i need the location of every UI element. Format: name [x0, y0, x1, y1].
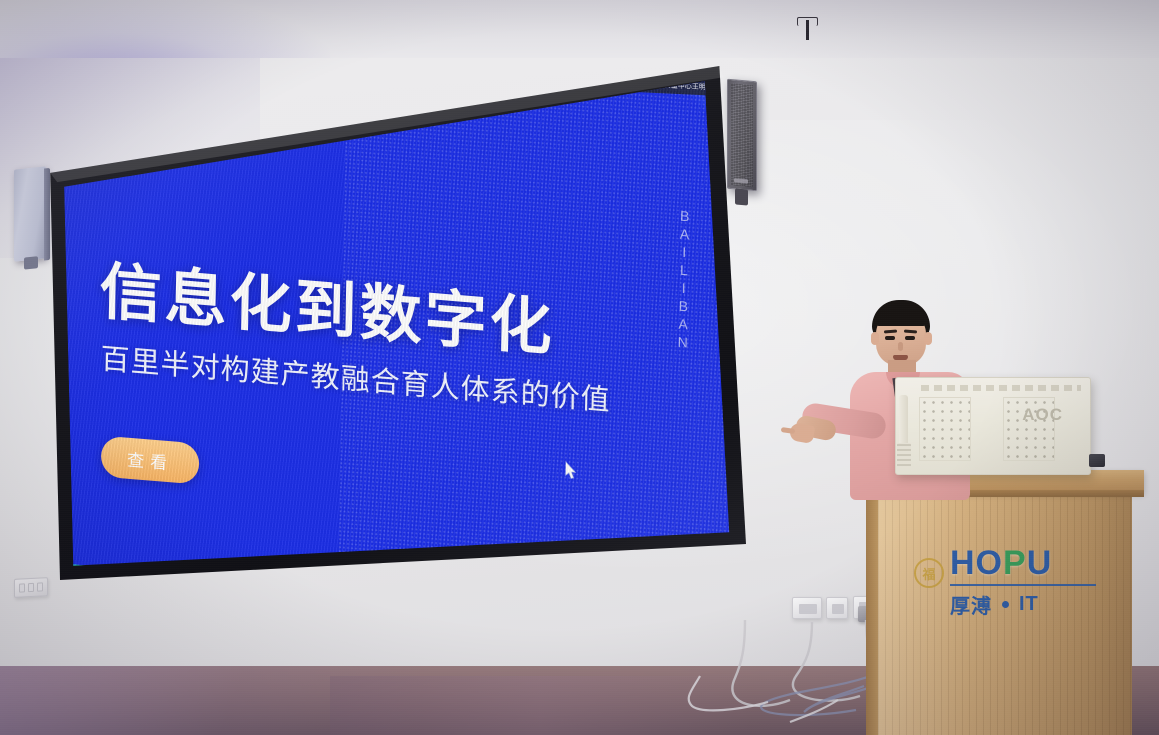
switch-rocker-2[interactable] [28, 583, 34, 592]
presenter-ear-left [871, 332, 879, 345]
toolbar-divider [374, 87, 375, 96]
presentation-slide[interactable]: 信息化到数字化 百里半对构建产教融合育人体系的价值 查看 BAILIBAN 切换… [46, 66, 746, 580]
seal-logo-icon: 福 [914, 558, 944, 588]
wall-outlet-1[interactable] [792, 597, 822, 619]
hopu-logo: HOPU 厚溥 IT [950, 546, 1096, 619]
hopu-p: P [1003, 544, 1027, 582]
slide-dot-row [72, 135, 144, 157]
presenter-hair-front [874, 306, 928, 326]
display-screen[interactable]: 信息化到数字化 百里半对构建产教融合育人体系的价值 查看 BAILIBAN 切换… [46, 66, 746, 580]
share-toolbar-left-label-2[interactable]: 结束共享 [397, 87, 425, 98]
share-toolbar-left-label-1[interactable]: 切换到共享屏幕 [318, 83, 367, 95]
hopu-wordmark-cn: 厚溥 [950, 590, 992, 619]
dot-orange-icon [72, 135, 88, 152]
monitor-buttons[interactable] [897, 443, 911, 469]
switch-rocker-1[interactable] [19, 583, 25, 592]
slide-vertical-brand: BAILIBAN [664, 206, 703, 353]
outlet-socket[interactable] [799, 604, 817, 614]
monitor-power-plug [1089, 454, 1105, 467]
share-toolbar-left[interactable]: 切换到共享屏幕 结束共享 [295, 79, 433, 101]
hopu-u: U [1027, 544, 1053, 582]
signal-icon [303, 84, 311, 92]
presenter-eye-left [885, 336, 895, 340]
aoc-monitor-rear[interactable]: AOC [895, 377, 1091, 475]
record-icon [382, 87, 390, 95]
presenter-ear-right [924, 332, 932, 345]
switch-rocker-3[interactable] [37, 582, 43, 591]
slide-plane: 信息化到数字化 百里半对构建产教融合育人体系的价值 查看 BAILIBAN 切换… [46, 66, 746, 580]
hopu-wordmark: HOPU [950, 546, 1096, 580]
monitor-vent-slots [921, 385, 1081, 391]
slide-cta-button[interactable]: 查看 [101, 436, 200, 485]
ceiling-bracket-icon [802, 14, 813, 40]
hopu-wordmark-suffix: IT [1019, 593, 1039, 616]
bracket-stem [806, 20, 809, 40]
presenter-eye-right [905, 336, 915, 340]
hopu-ho: HO [950, 544, 1003, 582]
outlet-socket[interactable] [832, 604, 844, 614]
presenter-nose [898, 342, 903, 351]
speaker-body [14, 166, 46, 261]
wall-display[interactable]: 信息化到数字化 百里半对构建产教融合育人体系的价值 查看 BAILIBAN 切换… [46, 66, 746, 580]
hopu-dot-icon [1002, 601, 1009, 608]
monitor-brand-label: AOC [1022, 405, 1063, 425]
arrow-cursor-icon [565, 462, 577, 481]
dot-white-2-icon [128, 139, 144, 156]
wall-outlet-2[interactable] [826, 597, 848, 619]
hopu-subwordmark: 厚溥 IT [950, 590, 1096, 619]
speaker-mount [24, 256, 38, 269]
dot-white-1-icon [100, 137, 116, 154]
hopu-rule [950, 584, 1096, 586]
monitor-vent-left [919, 397, 971, 461]
wall-speaker-left [14, 166, 46, 261]
wooden-lectern: 福 HOPU 厚溥 IT [866, 470, 1144, 735]
classroom-scene: 信息化到数字化 百里半对构建产教融合育人体系的价值 查看 BAILIBAN 切换… [0, 0, 1159, 735]
light-switch-panel[interactable] [14, 577, 48, 598]
floor-reflection-center [330, 676, 750, 735]
